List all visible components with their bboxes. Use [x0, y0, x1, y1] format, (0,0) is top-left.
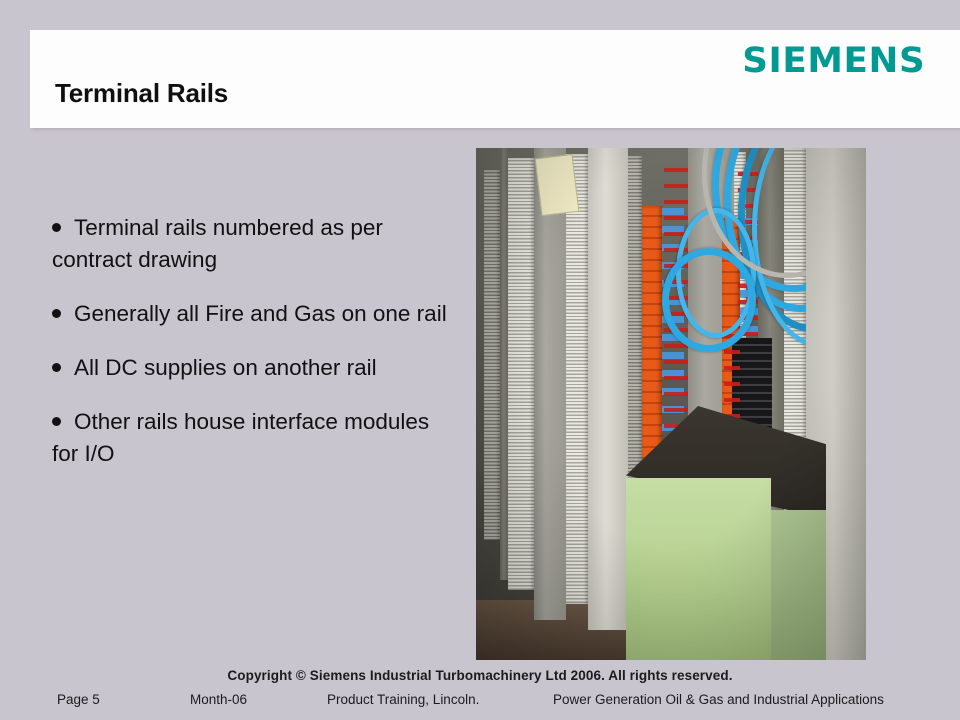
list-item: Terminal rails numbered as per contract …	[52, 212, 452, 276]
footer-course: Product Training, Lincoln.	[327, 692, 479, 707]
cabinet-panel	[588, 148, 628, 630]
list-item-label: Terminal rails numbered as per contract …	[52, 215, 383, 272]
bullet-dot-icon	[52, 223, 61, 232]
page-title: Terminal Rails	[55, 78, 228, 109]
orange-terminal-block-column	[642, 206, 662, 466]
photo-content	[476, 148, 866, 660]
equipment-plinth-front	[626, 478, 771, 660]
list-item: All DC supplies on another rail	[52, 352, 452, 384]
bullet-dot-icon	[52, 417, 61, 426]
terminal-rail	[508, 158, 534, 590]
list-item-label: Other rails house interface modules for …	[52, 409, 429, 466]
cabinet-panel	[534, 148, 566, 620]
bullet-dot-icon	[52, 363, 61, 372]
list-item-label: Generally all Fire and Gas on one rail	[74, 301, 447, 326]
cabinet-panel	[500, 148, 508, 580]
terminal-rails-photo	[476, 148, 866, 660]
list-item: Other rails house interface modules for …	[52, 406, 452, 470]
footer-business-unit: Power Generation Oil & Gas and Industria…	[553, 692, 884, 707]
page-number: Page 5	[57, 692, 100, 707]
equipment-plinth-side	[771, 510, 826, 660]
list-item-label: All DC supplies on another rail	[74, 355, 377, 380]
slide: SIEMENS Terminal Rails Terminal rails nu…	[0, 0, 960, 720]
blue-cable	[662, 248, 756, 352]
cabinet-label	[535, 154, 580, 216]
siemens-logo: SIEMENS	[743, 41, 926, 81]
terminal-rail	[566, 154, 588, 604]
footer-date: Month-06	[190, 692, 247, 707]
title-bar: SIEMENS Terminal Rails	[30, 30, 960, 128]
bullet-list: Terminal rails numbered as per contract …	[52, 212, 452, 492]
footer: Page 5 Month-06 Product Training, Lincol…	[0, 692, 960, 714]
copyright-notice: Copyright © Siemens Industrial Turbomach…	[0, 668, 960, 683]
list-item: Generally all Fire and Gas on one rail	[52, 298, 452, 330]
bullet-dot-icon	[52, 309, 61, 318]
terminal-rail	[484, 170, 500, 540]
